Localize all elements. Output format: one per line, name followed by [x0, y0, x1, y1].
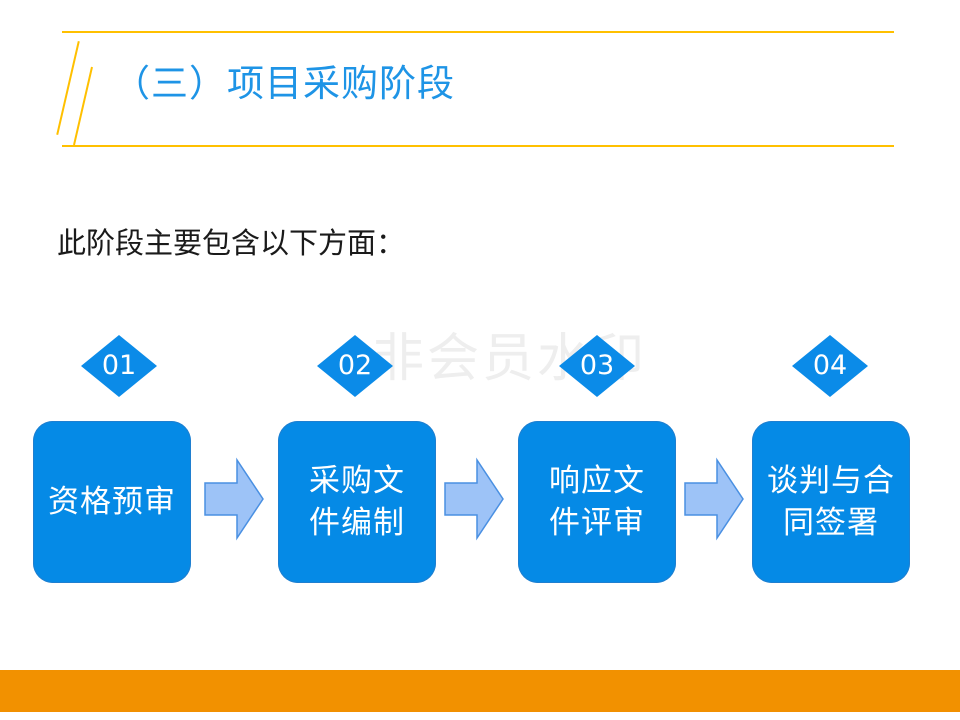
right-arrow-icon — [443, 457, 505, 541]
footer-bar — [0, 670, 960, 712]
process-step-box[interactable]: 响应文件评审 — [518, 421, 676, 583]
process-step-label: 采购文件编制 — [278, 460, 436, 544]
step-number-diamond: 02 — [317, 335, 393, 397]
slide-canvas: （三）项目采购阶段 此阶段主要包含以下方面： 非会员水印 01资格预审02采购文… — [0, 0, 960, 720]
process-flow-diagram: 01资格预审02采购文件编制03响应文件评审04谈判与合同签署 — [0, 0, 960, 720]
process-step-box[interactable]: 谈判与合同签署 — [752, 421, 910, 583]
step-number-label: 01 — [81, 335, 157, 397]
process-step-label: 响应文件评审 — [518, 460, 676, 544]
step-number-label: 04 — [792, 335, 868, 397]
process-step-box[interactable]: 资格预审 — [33, 421, 191, 583]
step-number-label: 03 — [559, 335, 635, 397]
process-step-box[interactable]: 采购文件编制 — [278, 421, 436, 583]
process-step-label: 谈判与合同签署 — [752, 460, 910, 544]
step-number-diamond: 03 — [559, 335, 635, 397]
right-arrow-icon — [203, 457, 265, 541]
step-number-diamond: 04 — [792, 335, 868, 397]
process-step-label: 资格预审 — [33, 481, 191, 523]
step-number-diamond: 01 — [81, 335, 157, 397]
step-number-label: 02 — [317, 335, 393, 397]
right-arrow-icon — [683, 457, 745, 541]
